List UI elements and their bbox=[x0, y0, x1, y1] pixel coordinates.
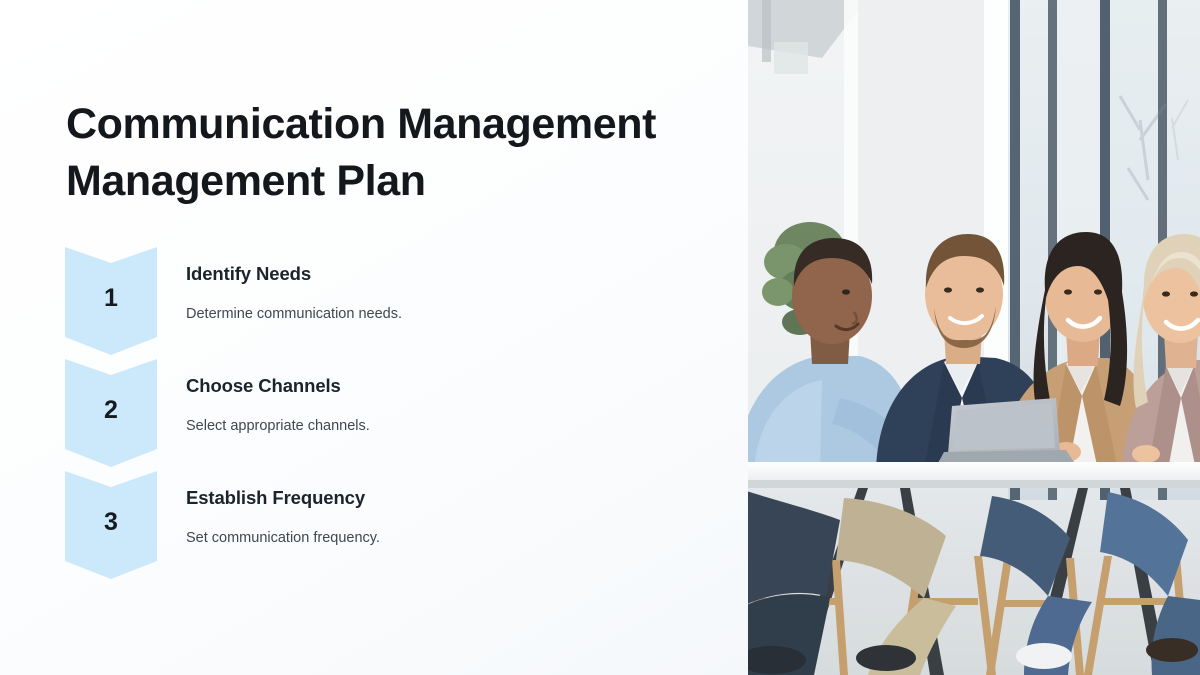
step-title: Establish Frequency bbox=[186, 487, 616, 509]
left-content-panel: Communication Management Management Plan… bbox=[0, 0, 748, 675]
step-number: 1 bbox=[65, 247, 157, 355]
step-text-block: Establish Frequency Set communication fr… bbox=[186, 487, 616, 548]
step-title: Choose Channels bbox=[186, 375, 616, 397]
title-line-2: Management Plan bbox=[66, 153, 706, 210]
list-item[interactable]: 1 Identify Needs Determine communication… bbox=[0, 247, 748, 359]
step-number: 3 bbox=[65, 471, 157, 579]
step-title: Identify Needs bbox=[186, 263, 616, 285]
slide: Communication Management Management Plan… bbox=[0, 0, 1200, 675]
list-item[interactable]: 3 Establish Frequency Set communication … bbox=[0, 471, 748, 587]
step-description: Set communication frequency. bbox=[186, 529, 616, 548]
title-line-1: Communication Management bbox=[66, 96, 706, 153]
steps-list: 1 Identify Needs Determine communication… bbox=[0, 247, 748, 587]
chevron-badge-1: 1 bbox=[65, 247, 157, 355]
step-description: Select appropriate channels. bbox=[186, 417, 616, 436]
chevron-badge-2: 2 bbox=[65, 359, 157, 467]
list-item[interactable]: 2 Choose Channels Select appropriate cha… bbox=[0, 359, 748, 471]
chevron-badge-3: 3 bbox=[65, 471, 157, 579]
step-text-block: Choose Channels Select appropriate chann… bbox=[186, 375, 616, 436]
step-number: 2 bbox=[65, 359, 157, 467]
team-meeting-photo bbox=[748, 0, 1200, 675]
step-text-block: Identify Needs Determine communication n… bbox=[186, 263, 616, 324]
title-block: Communication Management Management Plan bbox=[66, 96, 706, 210]
step-description: Determine communication needs. bbox=[186, 305, 616, 324]
page-title: Communication Management Management Plan bbox=[66, 96, 706, 210]
